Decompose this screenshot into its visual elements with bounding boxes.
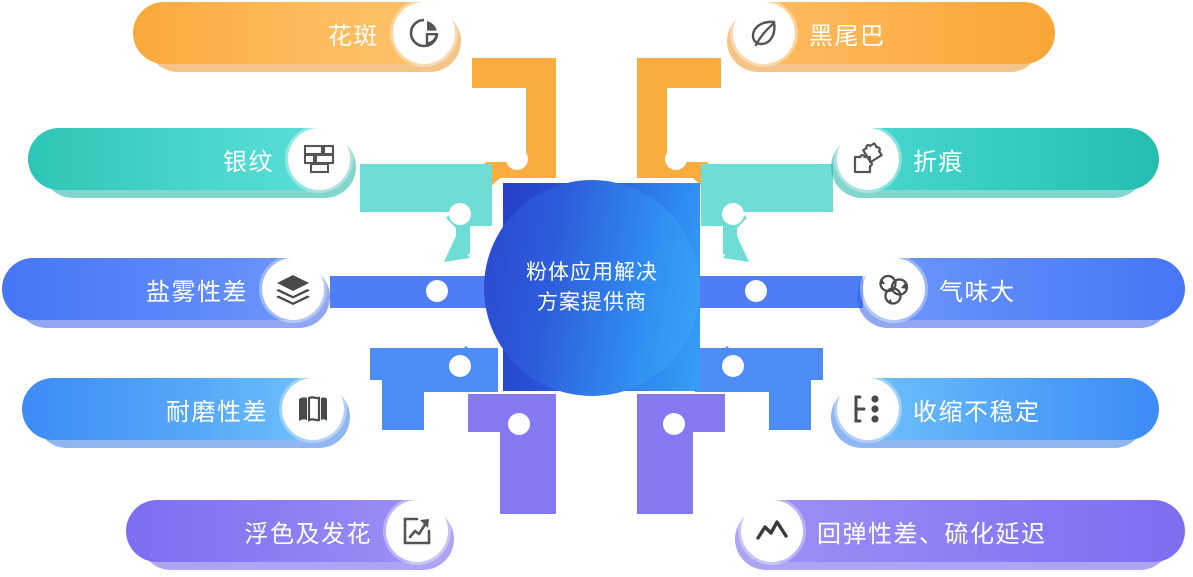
node-label-shou-suo-bu-wen-ding: 收缩不稳定 bbox=[899, 392, 1159, 427]
node-yan-wu-xing-cha[interactable]: 盐雾性差 bbox=[2, 258, 320, 320]
recycle-icon bbox=[863, 258, 925, 320]
pill-body[interactable]: 花斑 bbox=[133, 2, 451, 64]
map-fold-icon bbox=[282, 378, 344, 440]
pill-body[interactable]: 浮色及发花 bbox=[126, 500, 444, 562]
connector-yin-wen bbox=[360, 164, 492, 262]
connector-fu-se bbox=[468, 394, 556, 514]
node-hui-tan-xing-cha[interactable]: 回弹性差、硫化延迟 bbox=[745, 500, 1185, 562]
pill-body[interactable]: 银纹 bbox=[28, 128, 346, 190]
node-nai-mo-xing-cha[interactable]: 耐磨性差 bbox=[22, 378, 340, 440]
trend-box-icon bbox=[386, 500, 448, 562]
pill-body[interactable]: 折痕 bbox=[841, 128, 1159, 190]
connector-qi-wei-da bbox=[693, 276, 863, 308]
node-hei-wei-ba[interactable]: 黑尾巴 bbox=[737, 2, 1055, 64]
pill-body[interactable]: 回弹性差、硫化延迟 bbox=[745, 500, 1185, 562]
node-zhe-hen[interactable]: 折痕 bbox=[841, 128, 1159, 190]
node-label-zhe-hen: 折痕 bbox=[899, 142, 1159, 177]
node-label-yan-wu-xing-cha: 盐雾性差 bbox=[2, 272, 262, 307]
sitemap-icon bbox=[837, 378, 899, 440]
pill-body[interactable]: 黑尾巴 bbox=[737, 2, 1055, 64]
node-label-hua-ban: 花斑 bbox=[133, 16, 393, 51]
node-yin-wen[interactable]: 银纹 bbox=[28, 128, 346, 190]
pill-body[interactable]: 耐磨性差 bbox=[22, 378, 340, 440]
connector-zhe-hen bbox=[701, 164, 833, 262]
node-fu-se-fa-hua[interactable]: 浮色及发花 bbox=[126, 500, 444, 562]
node-hua-ban[interactable]: 花斑 bbox=[133, 2, 451, 64]
node-label-hui-tan-xing-cha: 回弹性差、硫化延迟 bbox=[803, 514, 1185, 549]
pill-body[interactable]: 气味大 bbox=[867, 258, 1185, 320]
puzzle-piece-icon bbox=[837, 128, 899, 190]
node-label-fu-se-fa-hua: 浮色及发花 bbox=[126, 514, 386, 549]
connector-yan-wu bbox=[330, 276, 500, 308]
pie-chart-icon bbox=[393, 2, 455, 64]
connector-hui-tan bbox=[637, 394, 725, 514]
line-chart-icon bbox=[741, 500, 803, 562]
node-label-hei-wei-ba: 黑尾巴 bbox=[795, 16, 1055, 51]
leaf-icon bbox=[733, 2, 795, 64]
center-title-line-2: 方案提供商 bbox=[537, 288, 647, 318]
pill-body[interactable]: 收缩不稳定 bbox=[841, 378, 1159, 440]
node-label-qi-wei-da: 气味大 bbox=[925, 272, 1185, 307]
pill-body[interactable]: 盐雾性差 bbox=[2, 258, 320, 320]
layers-icon bbox=[262, 258, 324, 320]
infographic-canvas: 粉体应用解决 方案提供商 花斑 银纹 bbox=[0, 0, 1193, 577]
node-label-yin-wen: 银纹 bbox=[28, 142, 288, 177]
brick-wall-icon bbox=[288, 128, 350, 190]
center-title-line-1: 粉体应用解决 bbox=[526, 258, 658, 288]
center-hub-label: 粉体应用解决 方案提供商 bbox=[484, 180, 700, 396]
node-shou-suo-bu-wen-ding[interactable]: 收缩不稳定 bbox=[841, 378, 1159, 440]
node-label-nai-mo-xing-cha: 耐磨性差 bbox=[22, 392, 282, 427]
node-qi-wei-da[interactable]: 气味大 bbox=[867, 258, 1185, 320]
